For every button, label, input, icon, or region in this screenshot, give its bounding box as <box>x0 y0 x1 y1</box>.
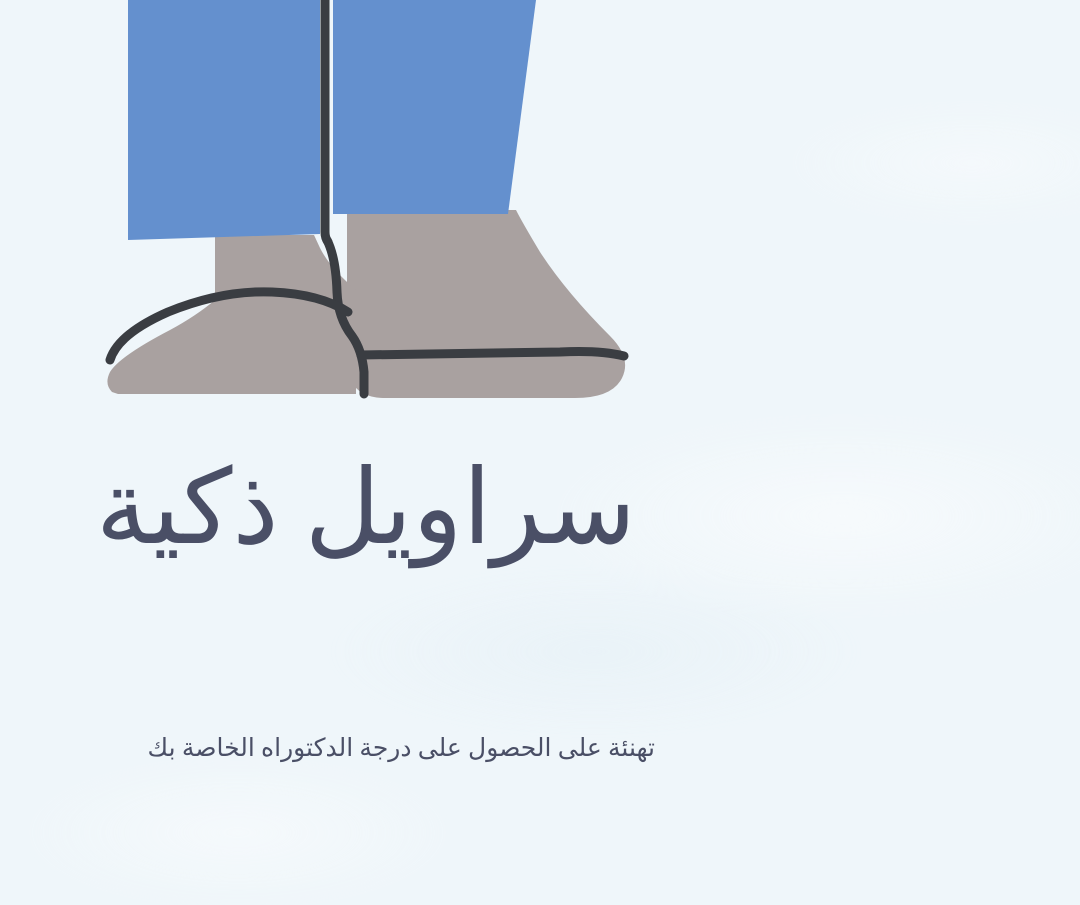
right-trouser-leg <box>333 0 536 214</box>
greeting-message: تهنئة على الحصول على درجة الدكتوراه الخا… <box>99 726 655 773</box>
legs-and-shoes-illustration <box>0 0 1080 420</box>
right-shoe <box>347 210 625 398</box>
greeting-card-page: سراويل ذكية تهنئة على الحصول على درجة ال… <box>0 0 1080 905</box>
page-title: سراويل ذكية <box>96 444 636 574</box>
right-shoe-group <box>347 210 625 398</box>
trouser-center-seam <box>325 0 328 242</box>
left-shoe <box>107 235 356 394</box>
left-shoe-group <box>107 235 356 394</box>
right-shoe-sole-line <box>361 352 624 357</box>
left-trouser-leg <box>128 0 320 240</box>
